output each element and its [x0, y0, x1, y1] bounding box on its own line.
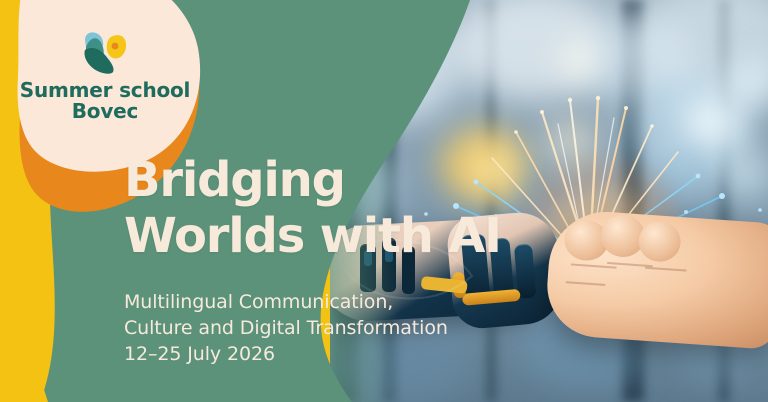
subtitle: Multilingual Communication, Culture and … — [124, 289, 448, 367]
mountain-sun-logo-icon — [77, 28, 133, 78]
event-banner: Summer school Bovec Bridging Worlds with… — [0, 0, 768, 402]
headline: Bridging Worlds with AI — [124, 152, 501, 264]
logo-text: Summer school Bovec — [14, 80, 196, 122]
summer-school-bovec-logo[interactable]: Summer school Bovec — [14, 28, 196, 122]
